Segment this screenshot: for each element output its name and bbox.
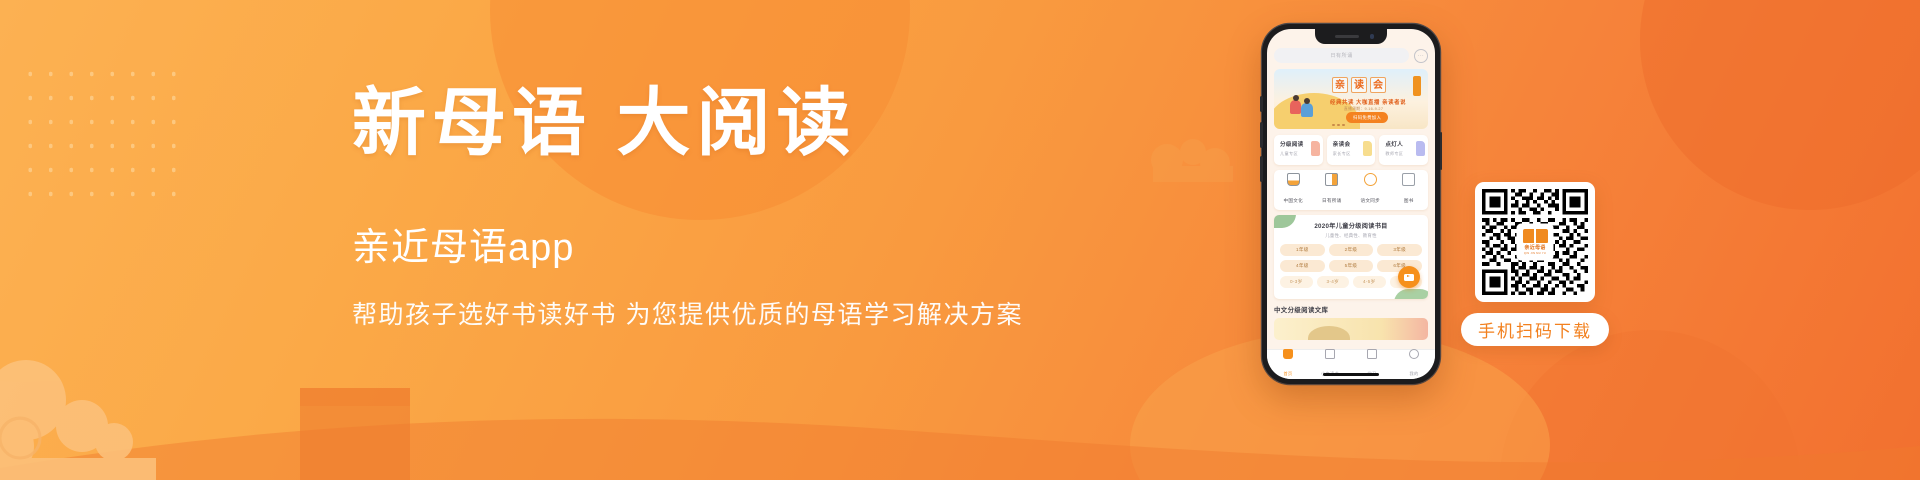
phone-mute-switch: [1260, 96, 1263, 112]
recite-icon: [1325, 173, 1338, 186]
phone-volume-up-button: [1260, 122, 1263, 148]
grade-tag[interactable]: 3年级: [1377, 244, 1422, 256]
decorative-circle-right-bottom: [1500, 330, 1800, 480]
decorative-circle-right-top: [1640, 0, 1920, 210]
reading-icon: [1325, 349, 1335, 359]
promo-title-char-3: 会: [1370, 77, 1386, 93]
bookmark-icon: [1363, 141, 1372, 156]
promo-cta-button[interactable]: 扫码免费加入: [1346, 112, 1388, 123]
zone-card-parent-club[interactable]: 亲读会 家长专区: [1327, 135, 1376, 165]
bookmark-icon: [1311, 141, 1320, 156]
decorative-wave: [0, 360, 1920, 480]
promo-highlights: 经典共读 大咖直播 亲读者说: [1330, 98, 1406, 106]
phone-home-indicator: [1323, 373, 1379, 376]
sync-icon: [1364, 173, 1377, 186]
library-section-title: 中文分级阅读文库: [1274, 305, 1428, 314]
quick-entry-row: 中国文化 日有所诵 语文同步 图书: [1274, 170, 1428, 210]
culture-icon: [1287, 173, 1300, 186]
brand-book-icon: [1523, 229, 1548, 243]
phone-power-button: [1440, 132, 1443, 170]
phone-speaker: [1335, 35, 1359, 38]
decorative-cloud-left-icon: [0, 338, 216, 480]
search-input[interactable]: 日有所诵: [1274, 48, 1409, 63]
phone-mockup: 日有所诵 ··· 亲 读 会 经典共读 大咖直播 亲读者说 直播周期：9.1: [1262, 24, 1440, 384]
zone-card-teacher[interactable]: 点灯人 教师专区: [1379, 135, 1428, 165]
profile-icon: [1409, 349, 1419, 359]
search-placeholder: 日有所诵: [1330, 52, 1352, 59]
quick-entry-books[interactable]: 图书: [1390, 173, 1429, 207]
quick-entry-label: 图书: [1404, 198, 1414, 203]
app-search-bar: 日有所诵 ···: [1274, 48, 1428, 63]
message-icon[interactable]: ···: [1414, 49, 1428, 63]
bookmark-icon: [1416, 141, 1425, 156]
video-play-icon[interactable]: [1398, 266, 1420, 288]
booklist-tag-grid: 1年级 2年级 3年级 4年级 5年级 6年级 0-3岁 3-4岁 4-: [1280, 244, 1422, 288]
qr-code-image: 亲近母语 QIN JIN MU YU: [1482, 189, 1588, 295]
promo-title: 亲 读 会: [1332, 77, 1386, 93]
decorative-cloud-right-icon: [1145, 130, 1240, 190]
quick-entry-label: 日有所诵: [1322, 198, 1342, 203]
promo-carousel-dots[interactable]: [1332, 124, 1345, 126]
quick-entry-sync[interactable]: 语文同步: [1351, 173, 1390, 207]
grade-tag[interactable]: 4年级: [1280, 260, 1325, 272]
home-icon: [1283, 349, 1293, 359]
decorative-dot-grid: [20, 62, 180, 212]
age-tag[interactable]: 4-5岁: [1353, 276, 1386, 288]
tab-home[interactable]: 首页: [1267, 349, 1309, 379]
tab-label: 我的: [1410, 371, 1419, 376]
decorative-leaf-icon: [1394, 289, 1428, 299]
book-icon: [1402, 173, 1415, 186]
study-icon: [1367, 349, 1377, 359]
grade-tag[interactable]: 5年级: [1329, 260, 1374, 272]
phone-volume-down-button: [1260, 156, 1263, 182]
promo-title-char-1: 亲: [1332, 77, 1348, 93]
hero-description: 帮助孩子选好书读好书 为您提供优质的母语学习解决方案: [352, 295, 1012, 331]
booklist-subtitle: 儿童性、经典性、教育性: [1280, 233, 1422, 239]
booklist-grade-row-1: 1年级 2年级 3年级: [1280, 244, 1422, 256]
phone-notch: [1315, 29, 1387, 44]
grade-tag[interactable]: 2年级: [1329, 244, 1374, 256]
age-tag[interactable]: 3-4岁: [1317, 276, 1350, 288]
download-button-label: 手机扫码下载: [1478, 317, 1592, 342]
qr-code-card: 亲近母语 QIN JIN MU YU: [1475, 182, 1595, 302]
hero-text-block: 新母语 大阅读 亲近母语app 帮助孩子选好书读好书 为您提供优质的母语学习解决…: [352, 86, 1012, 331]
promo-side-tag: [1413, 76, 1421, 96]
promo-card[interactable]: 亲 读 会 经典共读 大咖直播 亲读者说 直播周期：9.16-9.27 扫码免费…: [1274, 69, 1428, 129]
booklist-card: 2020年儿童分级阅读书目 儿童性、经典性、教育性 1年级 2年级 3年级 4年…: [1274, 215, 1428, 299]
grade-tag[interactable]: 1年级: [1280, 244, 1325, 256]
download-button[interactable]: 手机扫码下载: [1461, 313, 1609, 346]
tab-profile[interactable]: 我的: [1393, 349, 1435, 379]
quick-entry-culture[interactable]: 中国文化: [1274, 173, 1313, 207]
promo-title-char-2: 读: [1351, 77, 1367, 93]
hero-title: 新母语 大阅读: [352, 86, 1012, 164]
zone-card-graded-reading[interactable]: 分级阅读 儿童专区: [1274, 135, 1323, 165]
promo-illustration-child-b: [1301, 103, 1313, 117]
library-banner-card[interactable]: [1274, 318, 1428, 340]
promo-banner: 新母语 大阅读 亲近母语app 帮助孩子选好书读好书 为您提供优质的母语学习解决…: [0, 0, 1920, 480]
app-home-screen: 日有所诵 ··· 亲 读 会 经典共读 大咖直播 亲读者说 直播周期：9.1: [1267, 29, 1435, 379]
promo-illustration-child-a: [1290, 100, 1301, 114]
tab-label: 首页: [1284, 371, 1293, 376]
qr-center-logo: 亲近母语 QIN JIN MU YU: [1518, 225, 1552, 259]
zone-card-row: 分级阅读 儿童专区 亲读会 家长专区 点灯人 教师专区: [1274, 135, 1428, 165]
phone-front-camera-icon: [1370, 34, 1375, 39]
phone-screen: 日有所诵 ··· 亲 读 会 经典共读 大咖直播 亲读者说 直播周期：9.1: [1267, 29, 1435, 379]
brand-name: 亲近母语: [1524, 244, 1545, 251]
hero-subtitle: 亲近母语app: [352, 216, 1012, 271]
quick-entry-recite[interactable]: 日有所诵: [1313, 173, 1352, 207]
decorative-box: [300, 388, 410, 480]
brand-name-pinyin: QIN JIN MU YU: [1524, 252, 1546, 255]
booklist-title: 2020年儿童分级阅读书目: [1280, 221, 1422, 230]
quick-entry-label: 中国文化: [1283, 198, 1303, 203]
age-tag[interactable]: 0-3岁: [1280, 276, 1313, 288]
quick-entry-label: 语文同步: [1360, 198, 1380, 203]
